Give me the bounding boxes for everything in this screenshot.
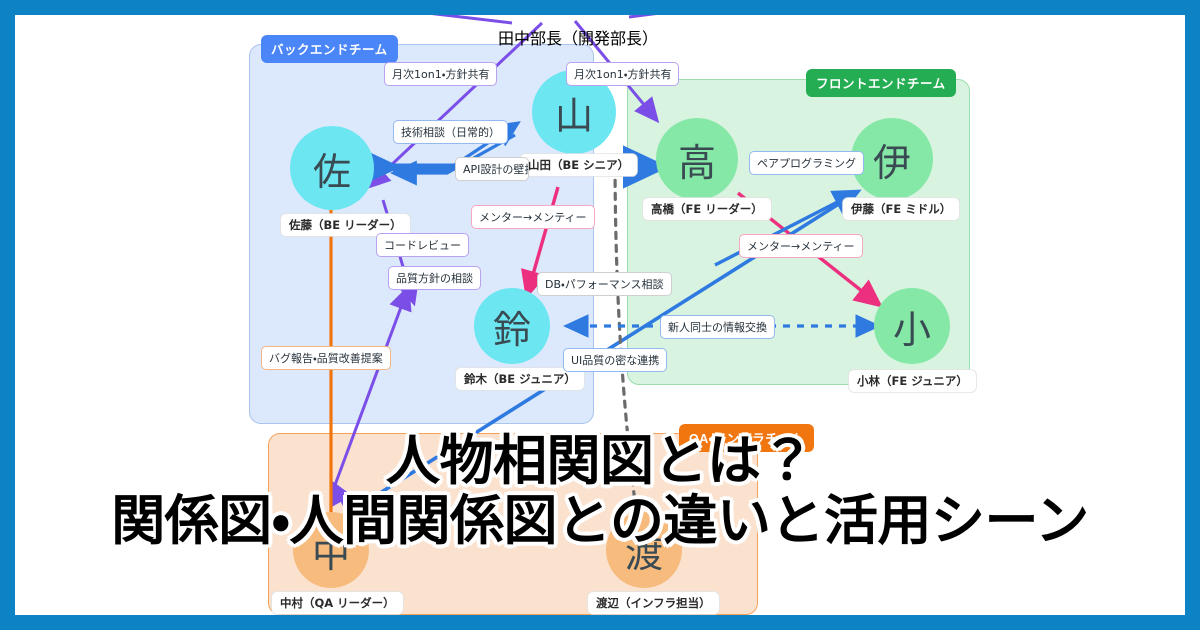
edge-label-e11: DB・パフォーマンス相談 [537,272,672,296]
edge-label-e10: バグ報告・品質改善提案 [261,346,391,370]
team-badge-qa: QA・インフラチーム [679,424,814,452]
node-label-ito: 伊藤（FE ミドル） [843,198,959,220]
node-label-takahashi: 高橋（FE リーダー） [643,198,771,220]
page-frame: バックエンドチーム フロントエンドチーム QA・インフラチーム [15,15,1185,615]
node-avatar-kobayashi: 小 [874,288,950,364]
edge-label-e3: 技術相談（日常的） [393,120,508,144]
edge-line-e2-stem [629,15,715,17]
node-label-tanaka: 田中部長（開発部長） [498,25,658,49]
edge-label-e5: メンター→メンティー [471,205,595,229]
edge-label-e8: コードレビュー [376,233,469,257]
edge-label-e4: API設計の壁打ち [455,157,529,181]
node-label-nakamura: 中村（QA リーダー） [272,592,403,614]
team-badge-frontend: フロントエンドチーム [806,69,956,97]
edge-label-e2: 月次1on1・方針共有 [566,62,679,86]
node-avatar-watanabe: 渡 [606,512,682,588]
node-label-kobayashi: 小林（FE ジュニア） [849,370,976,392]
edge-label-e13: UI品質の密な連携 [563,348,667,372]
node-avatar-nakamura: 中 [293,512,369,588]
edge-label-e12: 新人同士の情報交換 [660,315,775,339]
edge-label-e9: 品質方針の相談 [388,266,481,290]
edge-label-e6: メンター→メンティー [739,234,863,258]
relationship-diagram-canvas: バックエンドチーム フロントエンドチーム QA・インフラチーム [15,15,1185,615]
edge-line-e1-stem [419,15,512,23]
team-badge-backend: バックエンドチーム [261,35,398,63]
edge-label-e7: ペアプログラミング [749,151,864,175]
edge-label-e1: 月次1on1・方針共有 [384,62,497,86]
node-label-watanabe: 渡辺（インフラ担当） [588,592,719,614]
node-avatar-sato: 佐 [290,126,374,210]
node-label-yamada: 山田（BE シニア） [520,154,637,176]
node-avatar-takahashi: 高 [656,118,738,200]
node-avatar-suzuki: 鈴 [474,288,550,364]
